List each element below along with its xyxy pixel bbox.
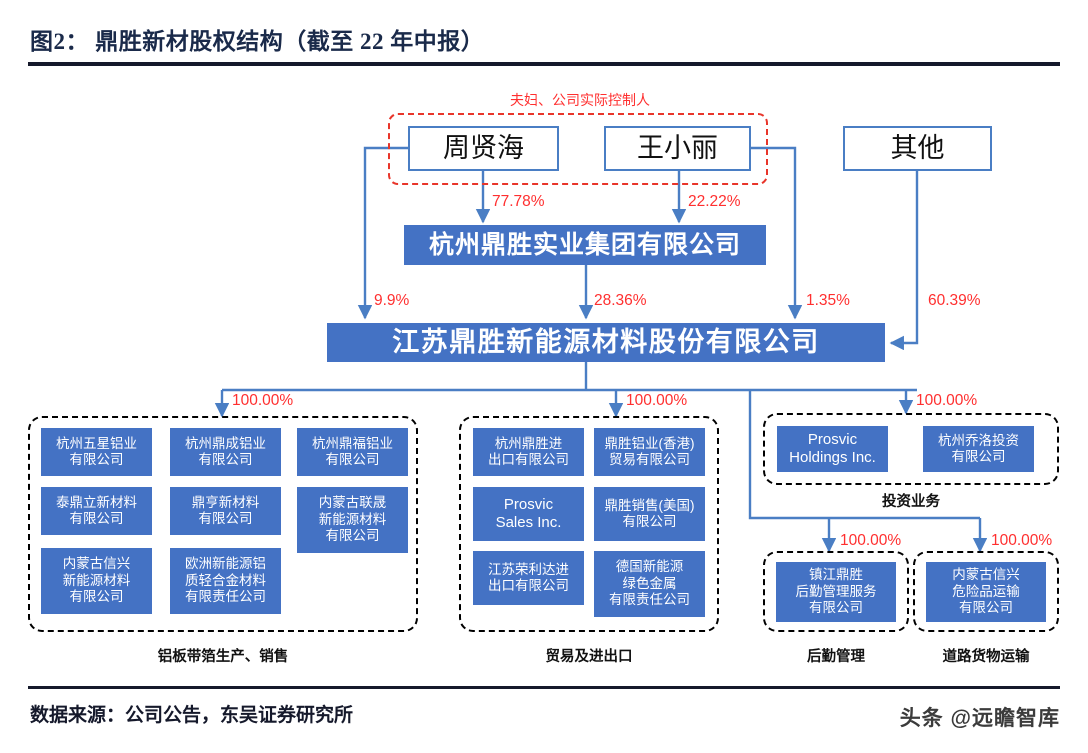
pct-listco-to-group-e: 100.00%	[991, 532, 1052, 550]
pct-listco-to-group-a: 100.00%	[232, 392, 293, 410]
node-dingsheng-aluminium-hongkong-trading[interactable]: 鼎胜铝业(香港) 贸易有限公司	[594, 428, 705, 476]
node-jiangsu-ronglida-import-export[interactable]: 江苏荣利达进 出口有限公司	[473, 551, 584, 605]
group-label-logistics-management: 后勤管理	[763, 645, 909, 666]
node-jiangsu-dingsheng-new-energy-materials[interactable]: 江苏鼎胜新能源材料股份有限公司	[327, 323, 885, 362]
node-inner-mongolia-liansheng-new-energy-materials[interactable]: 内蒙古联晟 新能源材料 有限公司	[297, 487, 408, 553]
node-dingsheng-sales-usa[interactable]: 鼎胜销售(美国) 有限公司	[594, 487, 705, 541]
node-prosvic-holdings-inc[interactable]: Prosvic Holdings Inc.	[777, 426, 888, 472]
pct-zhou-to-listco: 9.9%	[374, 292, 409, 310]
node-taidingli-new-materials[interactable]: 泰鼎立新材料 有限公司	[41, 487, 152, 535]
figure-canvas: 图2： 鼎胜新材股权结构（截至 22 年中报）	[0, 0, 1088, 753]
node-hangzhou-dingsheng-import-export[interactable]: 杭州鼎胜进 出口有限公司	[473, 428, 584, 476]
data-source-note: 数据来源：公司公告，东吴证券研究所	[30, 700, 353, 730]
footer-divider	[28, 686, 1060, 689]
pct-zhou-to-holding: 77.78%	[492, 193, 545, 211]
node-hangzhou-dingsheng-industrial-group[interactable]: 杭州鼎胜实业集团有限公司	[404, 225, 766, 265]
watermark: 头条 @远瞻智库	[900, 702, 1060, 732]
node-hangzhou-dingfu-aluminium[interactable]: 杭州鼎福铝业 有限公司	[297, 428, 408, 476]
pct-listco-to-group-d: 100.00%	[840, 532, 901, 550]
node-europe-new-energy-aluminium-alloy[interactable]: 欧洲新能源铝 质轻合金材料 有限责任公司	[170, 548, 281, 614]
group-label-aluminium-production: 铝板带箔生产、销售	[28, 645, 418, 666]
node-hangzhou-wuxing-aluminium[interactable]: 杭州五星铝业 有限公司	[41, 428, 152, 476]
group-label-trade-import-export: 贸易及进出口	[459, 645, 719, 666]
node-zhou-xianhai[interactable]: 周贤海	[408, 126, 559, 171]
pct-other-to-listco: 60.39%	[928, 292, 981, 310]
node-wang-xiaoli[interactable]: 王小丽	[604, 126, 751, 171]
node-hangzhou-qiaoluo-investment[interactable]: 杭州乔洛投资 有限公司	[923, 426, 1034, 472]
figure-title: 图2： 鼎胜新材股权结构（截至 22 年中报）	[30, 22, 930, 56]
pct-wang-to-listco: 1.35%	[806, 292, 850, 310]
group-label-investment: 投资业务	[763, 490, 1059, 511]
node-hangzhou-dingcheng-aluminium[interactable]: 杭州鼎成铝业 有限公司	[170, 428, 281, 476]
node-zhenjiang-dingsheng-logistics-service[interactable]: 镇江鼎胜 后勤管理服务 有限公司	[776, 562, 896, 622]
node-germany-new-energy-green-metal[interactable]: 德国新能源 绿色金属 有限责任公司	[594, 551, 705, 617]
pct-wang-to-holding: 22.22%	[688, 193, 741, 211]
node-prosvic-sales-inc[interactable]: Prosvic Sales Inc.	[473, 487, 584, 541]
node-dingheng-new-materials[interactable]: 鼎亨新材料 有限公司	[170, 487, 281, 535]
group-label-road-freight-transport: 道路货物运输	[913, 645, 1059, 666]
pct-listco-to-group-c: 100.00%	[916, 392, 977, 410]
title-divider-top	[28, 62, 1060, 66]
pct-holding-to-listco: 28.36%	[594, 292, 647, 310]
node-other-shareholders[interactable]: 其他	[843, 126, 992, 171]
actual-controller-note: 夫妇、公司实际控制人	[470, 90, 690, 110]
node-inner-mongolia-xinxing-new-energy-materials[interactable]: 内蒙古信兴 新能源材料 有限公司	[41, 548, 152, 614]
node-inner-mongolia-xinxing-hazardous-transport[interactable]: 内蒙古信兴 危险品运输 有限公司	[926, 562, 1046, 622]
pct-listco-to-group-b: 100.00%	[626, 392, 687, 410]
